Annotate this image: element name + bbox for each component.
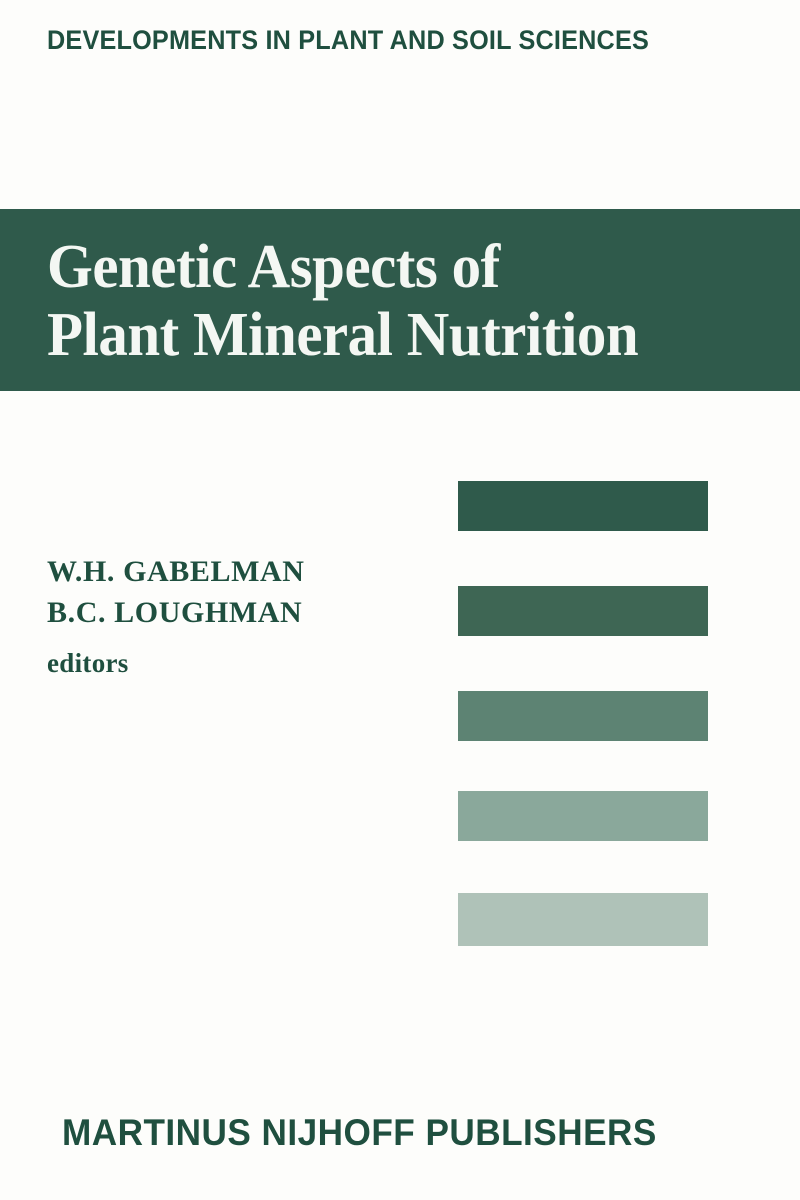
editors-role-label: editors: [47, 647, 407, 679]
decorative-bar-stack: [458, 481, 708, 947]
decorative-bar-3: [458, 691, 708, 741]
decorative-bar-4: [458, 791, 708, 841]
editor-name-1: W.H. GABELMAN: [47, 551, 407, 592]
editor-name-2: B.C. LOUGHMAN: [47, 592, 407, 633]
title-text-group: Genetic Aspects of Plant Mineral Nutriti…: [47, 233, 780, 369]
book-title-line-2: Plant Mineral Nutrition: [47, 301, 743, 369]
decorative-bar-5: [458, 893, 708, 946]
publisher-name: MARTINUS NIJHOFF PUBLISHERS: [62, 1113, 727, 1153]
book-cover: DEVELOPMENTS IN PLANT AND SOIL SCIENCES …: [0, 0, 800, 1200]
decorative-bar-2: [458, 586, 708, 636]
decorative-bar-1: [458, 481, 708, 531]
editors-block: W.H. GABELMAN B.C. LOUGHMAN editors: [47, 551, 407, 679]
book-title-line-1: Genetic Aspects of: [47, 233, 743, 301]
series-title: DEVELOPMENTS IN PLANT AND SOIL SCIENCES: [47, 23, 702, 57]
title-band: Genetic Aspects of Plant Mineral Nutriti…: [0, 209, 800, 391]
